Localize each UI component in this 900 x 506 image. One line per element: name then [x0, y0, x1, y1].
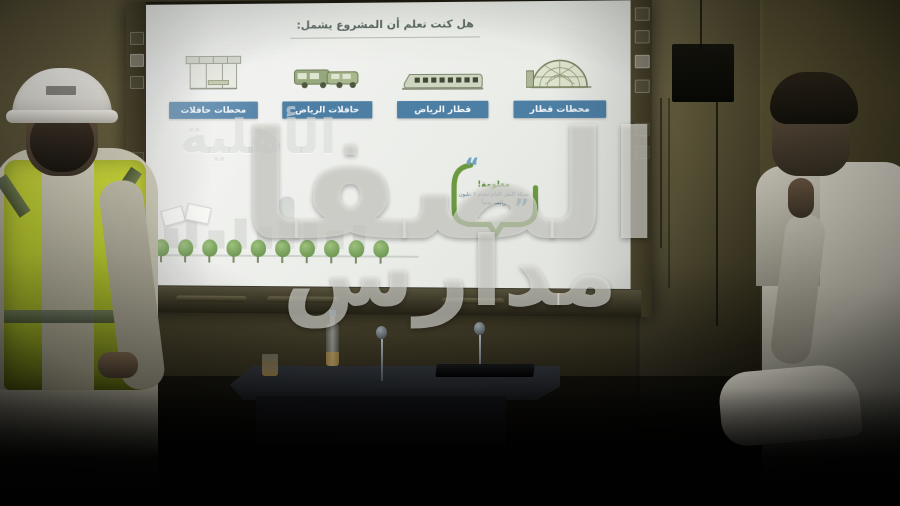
eraser-icon[interactable] [635, 146, 650, 159]
bottle-neck [330, 315, 335, 324]
tree-trunk [306, 256, 308, 263]
attendee-hair [770, 72, 858, 124]
attendee-hand [788, 178, 814, 218]
tree-icon [349, 240, 364, 257]
projection-screen: هل كنت تعلم أن المشروع يشمل: [146, 0, 631, 290]
tree-icon [251, 240, 266, 257]
callout-heading: معلومة! [448, 179, 540, 188]
laptop[interactable] [435, 364, 534, 377]
filled-square-icon[interactable] [635, 55, 650, 69]
whiteboard-pen-tray [136, 285, 641, 317]
tree-icon [275, 240, 290, 257]
projector-control-box [672, 44, 734, 102]
callout-body: شبكة النقل العام تخدم ٣ مليون راكب يوميا… [456, 192, 531, 208]
photo-canvas: هل كنت تعلم أن المشروع يشمل: [0, 0, 900, 506]
tree-icon [300, 240, 315, 257]
drinking-glass[interactable] [262, 354, 278, 376]
tree-icon [226, 240, 241, 257]
tree-trunk [208, 256, 210, 263]
slide-brand-watermark: الأهلية [180, 108, 336, 165]
metro-train-icon [400, 47, 485, 94]
marker-pen[interactable] [267, 296, 338, 303]
tree-icon [324, 240, 339, 257]
square-icon[interactable] [635, 7, 650, 21]
tree-trunk [380, 257, 382, 264]
slide-item: محطات قطار [506, 46, 613, 118]
bus-shelter-icon [182, 48, 245, 95]
presentation-slide: هل كنت تعلم أن المشروع يشمل: [146, 0, 631, 290]
square-icon[interactable] [130, 32, 144, 45]
water-bottle[interactable] [326, 310, 339, 366]
cable-b [716, 96, 718, 326]
tree-trunk [330, 256, 332, 263]
microphone[interactable] [378, 326, 386, 381]
interactive-whiteboard[interactable]: هل كنت تعلم أن المشروع يشمل: [126, 0, 652, 317]
hard-hat-logo [46, 86, 76, 95]
tree-trunk [355, 256, 357, 263]
slide-title-underline [290, 36, 480, 38]
page-icon[interactable] [635, 30, 650, 44]
slide-item-label: قطار الرياض [397, 101, 488, 119]
tree-icon [202, 239, 217, 256]
vest-opening [42, 160, 94, 390]
slide-title: هل كنت تعلم أن المشروع يشمل: [146, 17, 631, 33]
tree-icon [373, 240, 388, 257]
cable-c [660, 98, 662, 248]
tree-trunk [233, 256, 235, 263]
info-callout: “ ” معلومة! شبكة النقل العام تخدم ٣ مليو… [448, 157, 540, 237]
cable-d [668, 98, 670, 288]
slide-item: قطار الرياض [390, 47, 496, 119]
tree-trunk [257, 256, 259, 263]
marker-pen[interactable] [176, 295, 247, 302]
bottle-cap [329, 310, 336, 316]
cable-a [700, 0, 702, 48]
mic-stem [381, 339, 383, 381]
quote-open-icon: “ [464, 155, 479, 181]
pen-icon[interactable] [635, 123, 650, 136]
foreground-shadow [0, 388, 900, 506]
whiteboard-right-toolbar[interactable] [631, 0, 652, 317]
tree-icon [178, 239, 193, 256]
bus-icon [291, 47, 363, 94]
mic-head [376, 326, 387, 339]
presenter-hands [98, 352, 138, 378]
metro-station-dome-icon [526, 46, 593, 94]
city-skyline-graphic [146, 194, 419, 270]
mic-head [474, 322, 485, 335]
eraser-block[interactable] [442, 298, 505, 305]
bottle-liquid [326, 352, 339, 366]
grid-icon[interactable] [635, 80, 650, 93]
tree-trunk [184, 255, 186, 262]
slide-item-label: محطات قطار [514, 100, 607, 118]
hard-hat-brim [6, 110, 118, 123]
tree-trunk [281, 256, 283, 263]
